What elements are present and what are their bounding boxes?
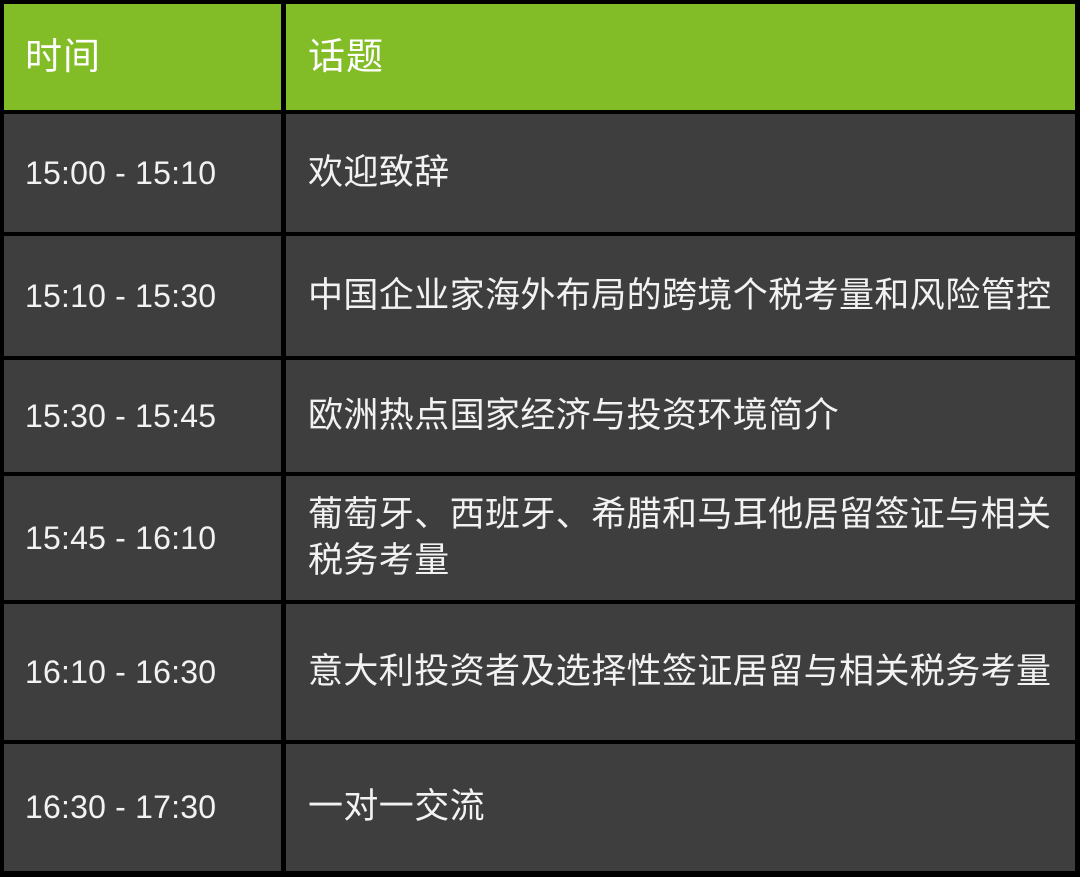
table-cell-topic: 中国企业家海外布局的跨境个税考量和风险管控	[286, 232, 1080, 356]
session-topic: 一对一交流	[308, 784, 485, 830]
column-header-topic: 话题	[286, 0, 1080, 110]
table-cell-topic: 一对一交流	[286, 740, 1080, 877]
session-topic: 欢迎致辞	[308, 150, 450, 196]
table-row: 15:10 - 15:30 中国企业家海外布局的跨境个税考量和风险管控	[0, 232, 1080, 356]
session-time: 15:45 - 16:10	[25, 519, 216, 557]
table-row: 16:10 - 16:30 意大利投资者及选择性签证居留与相关税务考量	[0, 600, 1080, 740]
table-row: 15:45 - 16:10 葡萄牙、西班牙、希腊和马耳他居留签证与相关税务考量	[0, 472, 1080, 600]
table-cell-time: 15:00 - 15:10	[0, 110, 286, 232]
column-header-topic-label: 话题	[308, 35, 384, 79]
table-row: 16:30 - 17:30 一对一交流	[0, 740, 1080, 877]
session-topic: 欧洲热点国家经济与投资环境简介	[308, 393, 839, 439]
table-cell-topic: 意大利投资者及选择性签证居留与相关税务考量	[286, 600, 1080, 740]
session-time: 15:00 - 15:10	[25, 154, 216, 192]
agenda-table: 时间 话题 15:00 - 15:10 欢迎致辞 15:10 - 15:30 中…	[0, 0, 1080, 877]
session-time: 15:10 - 15:30	[25, 277, 216, 315]
table-cell-time: 16:10 - 16:30	[0, 600, 286, 740]
column-header-time-label: 时间	[25, 35, 101, 79]
table-cell-topic: 欧洲热点国家经济与投资环境简介	[286, 356, 1080, 472]
table-row: 15:30 - 15:45 欧洲热点国家经济与投资环境简介	[0, 356, 1080, 472]
table-cell-time: 15:45 - 16:10	[0, 472, 286, 600]
session-topic: 中国企业家海外布局的跨境个税考量和风险管控	[308, 273, 1051, 319]
table-cell-topic: 欢迎致辞	[286, 110, 1080, 232]
table-cell-time: 15:30 - 15:45	[0, 356, 286, 472]
session-topic: 意大利投资者及选择性签证居留与相关税务考量	[308, 649, 1051, 695]
table-cell-time: 15:10 - 15:30	[0, 232, 286, 356]
table-cell-topic: 葡萄牙、西班牙、希腊和马耳他居留签证与相关税务考量	[286, 472, 1080, 600]
column-header-time: 时间	[0, 0, 286, 110]
table-header-row: 时间 话题	[0, 0, 1080, 110]
session-time: 16:30 - 17:30	[25, 788, 216, 826]
session-topic: 葡萄牙、西班牙、希腊和马耳他居留签证与相关税务考量	[308, 492, 1061, 584]
table-cell-time: 16:30 - 17:30	[0, 740, 286, 877]
session-time: 15:30 - 15:45	[25, 397, 216, 435]
session-time: 16:10 - 16:30	[25, 653, 216, 691]
table-row: 15:00 - 15:10 欢迎致辞	[0, 110, 1080, 232]
